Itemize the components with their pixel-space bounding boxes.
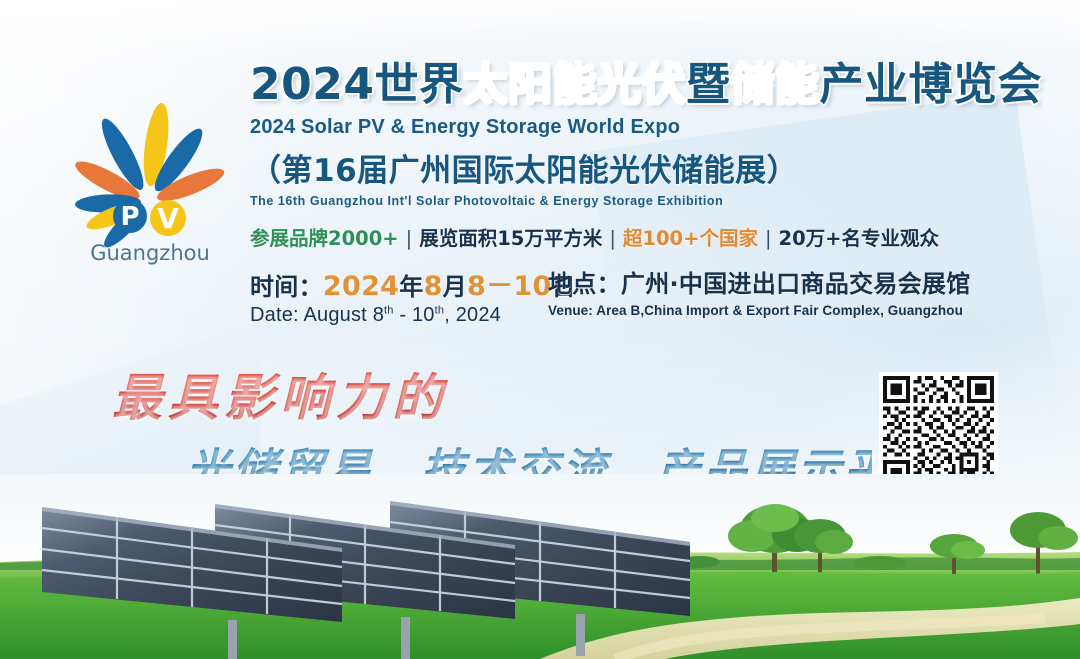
venue-column: 地点：广州·中国进出口商品交易会展馆 Venue: Area B,China I… [540, 264, 971, 318]
stat-separator-3: | [758, 227, 779, 250]
date-month: 8 [424, 271, 443, 302]
svg-text:V: V [157, 202, 179, 235]
svg-text:Guangzhou: Guangzhou [90, 241, 210, 265]
date-en-mid: - 10 [394, 304, 435, 326]
date-label-cn: 时间： [250, 273, 323, 301]
date-line-english: Date: August 8th - 10th, 2024 [250, 304, 540, 327]
secondary-title-english: The 16th Guangzhou Int'l Solar Photovolt… [250, 194, 1040, 208]
stats-strip: 参展品牌2000+|展览面积15万平方米|超100+个国家|20万+名专业观众 [250, 222, 1040, 251]
date-year-unit: 年 [399, 273, 423, 301]
pv-guangzhou-logo: P V Guangzhou [58, 98, 238, 278]
date-label-en: Date: [250, 304, 299, 326]
secondary-title-chinese: （第16届广州国际太阳能光伏储能展） [250, 145, 1040, 190]
stat-area: 展览面积15万平方米 [419, 227, 602, 250]
date-en-prefix: August 8 [303, 304, 384, 326]
main-title-seg-4: 储能 [730, 59, 819, 110]
date-column: 时间：2024年8月8－10日 Date: August 8th - 10th,… [250, 264, 540, 327]
date-month-unit: 月 [443, 273, 467, 301]
main-title-english: 2024 Solar PV & Energy Storage World Exp… [250, 116, 1040, 139]
date-days: 8－10 [467, 271, 552, 302]
stat-separator-1: | [399, 227, 420, 250]
venue-value-cn: 广州·中国进出口商品交易会展馆 [621, 270, 971, 298]
stat-visitors: 20万+名专业观众 [779, 227, 939, 250]
venue-line-chinese: 地点：广州·中国进出口商品交易会展馆 [548, 264, 971, 299]
landscape-scene [0, 474, 1080, 659]
venue-line-english: Venue: Area B,China Import & Export Fair… [548, 303, 971, 318]
stat-countries: 超100+个国家 [623, 227, 758, 250]
date-venue-row: 时间：2024年8月8－10日 Date: August 8th - 10th,… [250, 264, 1040, 327]
slogan-line-1: 最具影响力的 [112, 358, 872, 430]
date-line-chinese: 时间：2024年8月8－10日 [250, 264, 540, 303]
date-en-suffix: , 2024 [444, 304, 501, 326]
date-en-sup-2: th [435, 304, 445, 316]
svg-text:P: P [120, 202, 139, 232]
header-block: 2024世界太阳能光伏暨储能产业博览会 2024 Solar PV & Ener… [250, 58, 1040, 327]
main-title-seg-5: 产业博览会 [819, 59, 1042, 110]
main-title: 2024世界太阳能光伏暨储能产业博览会 [250, 58, 1040, 112]
date-year: 2024 [323, 271, 399, 302]
main-title-seg-2: 太阳能光伏 [463, 59, 686, 110]
stat-separator-2: | [602, 227, 623, 250]
main-title-seg-1: 2024世界 [250, 59, 463, 110]
main-title-seg-3: 暨 [686, 59, 731, 110]
stat-brands: 参展品牌2000+ [250, 227, 399, 250]
date-en-sup-1: th [384, 304, 394, 316]
poster-root: P V Guangzhou 2024世界太阳能光伏暨储能产业博览会 2024 S… [0, 0, 1080, 659]
venue-label-cn: 地点： [548, 270, 621, 298]
bg-streak-top-band [0, 0, 1080, 60]
